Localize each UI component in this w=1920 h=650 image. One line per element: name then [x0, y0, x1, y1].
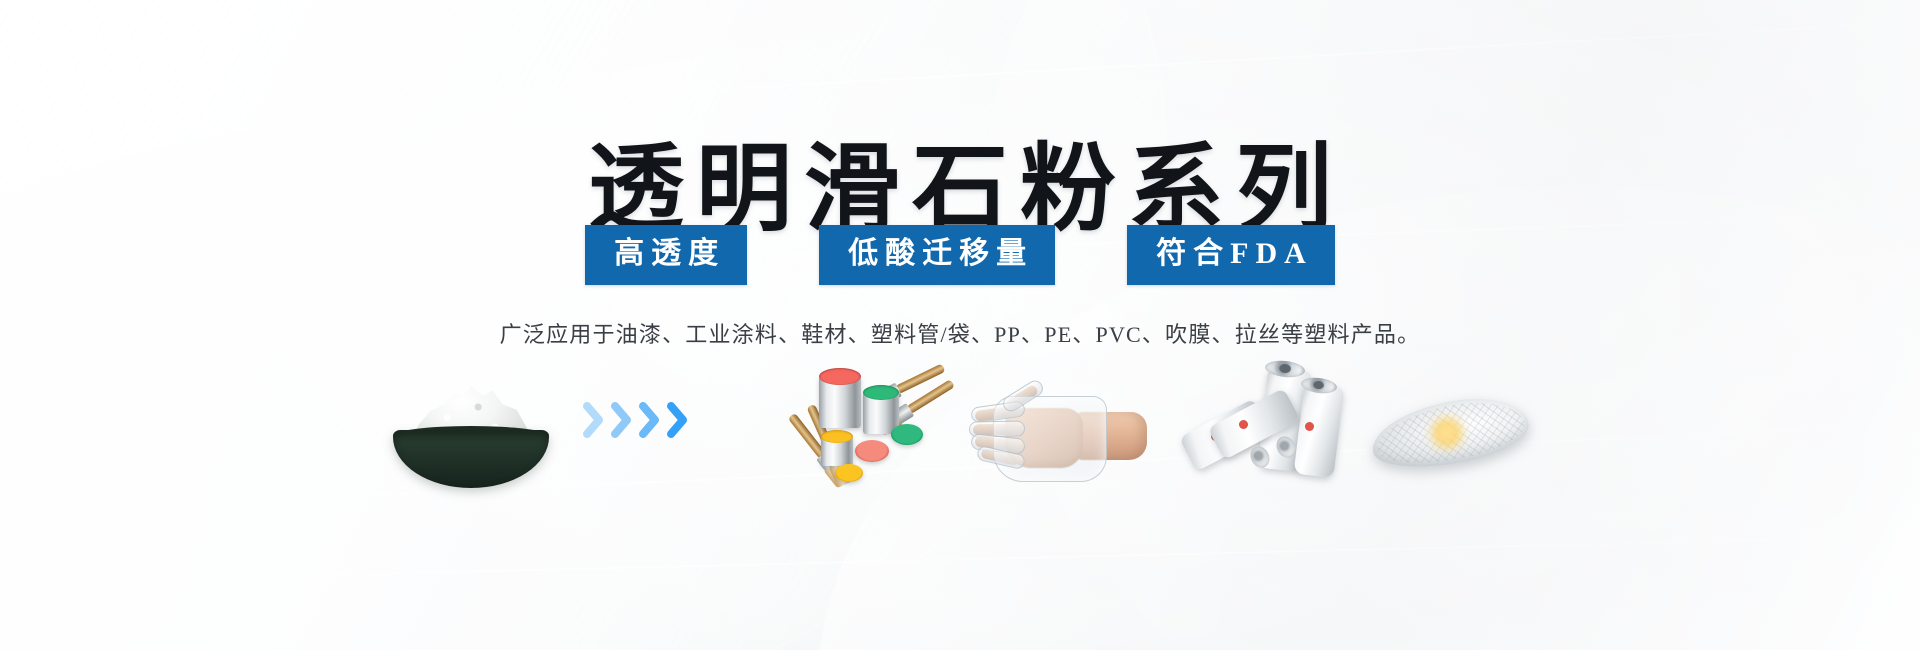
shoe-sole-image: [1357, 352, 1543, 502]
film-roll-label-dot-4: [1305, 422, 1314, 431]
chevron-group: [581, 400, 691, 440]
paint-cans-image: [769, 352, 955, 502]
green-bowl: [393, 430, 549, 488]
film-rolls-image: [1161, 352, 1347, 502]
film-rolls-icon: [1167, 362, 1343, 494]
feature-badge-high-transparency: 高透度: [585, 225, 747, 285]
powder-bowl-icon: [383, 378, 559, 496]
paint-lid-green: [891, 424, 923, 445]
paint-lid-pink: [855, 440, 889, 462]
shoe-sole-icon: [1363, 380, 1539, 486]
paint-lid-yellow: [835, 464, 863, 482]
feature-badge-row: 高透度 低酸迁移量 符合FDA: [0, 225, 1920, 285]
paint-cans-icon: [777, 352, 949, 502]
paint-can-green-top: [863, 385, 899, 400]
chevron-right-icon-2: [609, 400, 635, 440]
film-roll-label-dot-2: [1239, 420, 1248, 429]
sole-glow-highlight: [1425, 412, 1469, 454]
chevron-right-icon-3: [637, 400, 663, 440]
paint-can-yellow-top: [821, 430, 853, 443]
gloved-hand-icon: [971, 378, 1147, 488]
application-description: 广泛应用于油漆、工业涂料、鞋材、塑料管/袋、PP、PE、PVC、吹膜、拉丝等塑料…: [0, 322, 1920, 348]
process-arrows-image: [573, 352, 759, 502]
plastic-glove-hand-image: [965, 352, 1151, 502]
page-title: 透明滑石粉系列: [0, 142, 1920, 238]
paint-can-red-top: [819, 368, 861, 385]
talc-powder-bowl-image: [377, 352, 563, 502]
feature-badge-low-acid-migration: 低酸迁移量: [819, 225, 1055, 285]
feature-badge-fda-compliant: 符合FDA: [1127, 225, 1335, 285]
chevron-right-icon-1: [581, 400, 607, 440]
product-image-strip: [0, 352, 1920, 502]
product-banner: 透明滑石粉系列 高透度 低酸迁移量 符合FDA 广泛应用于油漆、工业涂料、鞋材、…: [0, 0, 1920, 650]
chevron-right-icon-4: [665, 400, 691, 440]
